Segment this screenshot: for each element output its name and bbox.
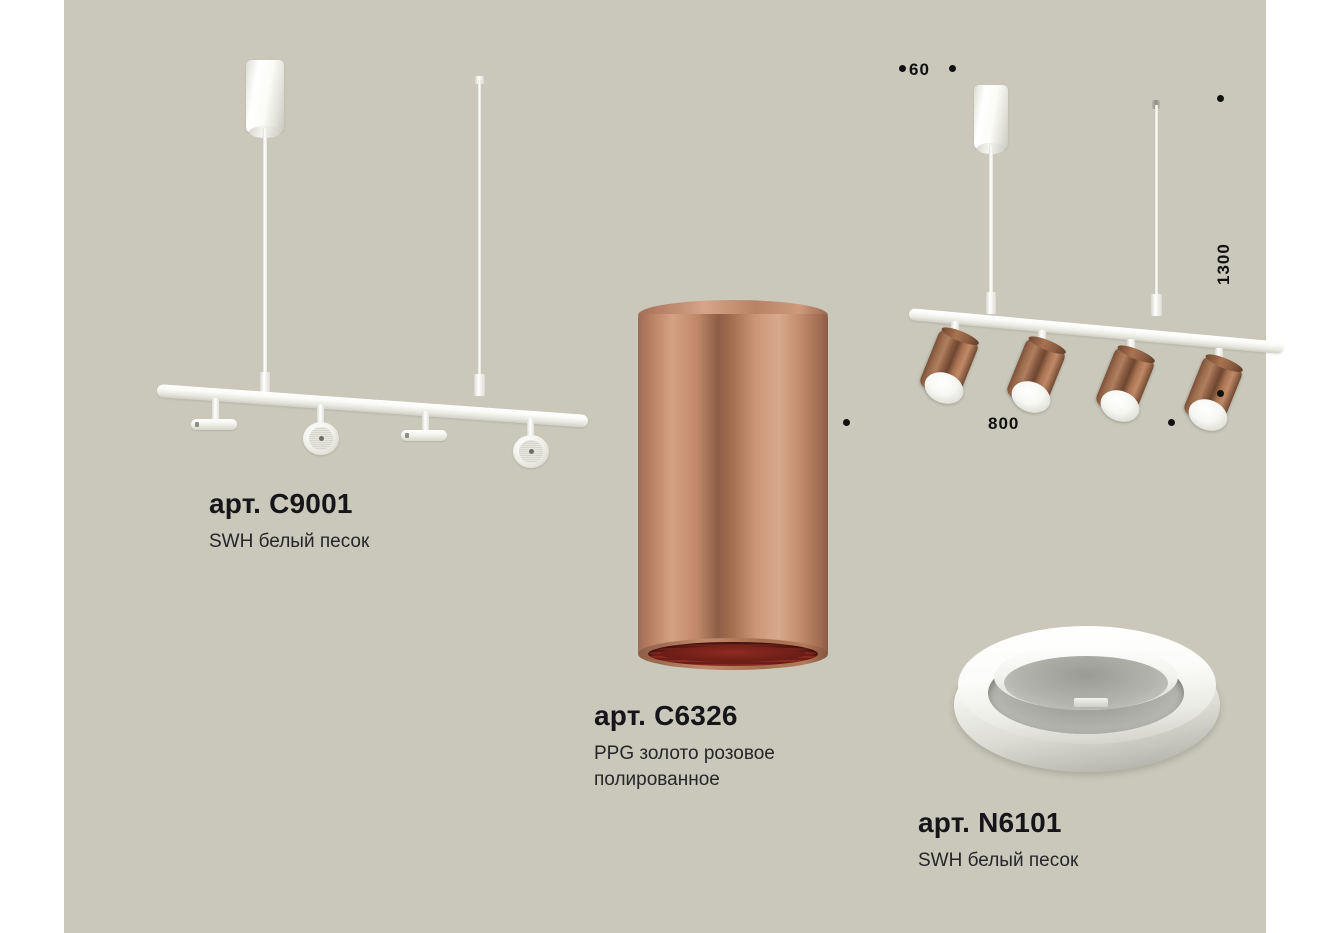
product-canvas: арт. C9001 SWH белый песок арт. C6326 PP… bbox=[64, 0, 1266, 933]
cable-collar bbox=[474, 374, 485, 396]
product-image-c9001 bbox=[64, 0, 624, 480]
cylinder-body bbox=[638, 314, 828, 654]
spot-lamp-1 bbox=[920, 321, 990, 407]
ring-mounting-tab bbox=[1074, 698, 1108, 707]
dimension-dot bbox=[949, 65, 956, 72]
finish-name-c9001: SWH белый песок bbox=[209, 529, 369, 555]
finish-name-c6326-line1: PPG золото розовое bbox=[594, 741, 775, 767]
product-image-n6101 bbox=[894, 610, 1214, 800]
lamp-holder-front-view bbox=[513, 435, 549, 468]
dimension-dot bbox=[1217, 95, 1224, 102]
cylinder-threaded-interior bbox=[648, 642, 818, 666]
catalog-sheet: арт. C9001 SWH белый песок арт. C6326 PP… bbox=[0, 0, 1333, 933]
cable-collar bbox=[1151, 294, 1162, 316]
label-c9001: арт. C9001 SWH белый песок bbox=[209, 488, 369, 555]
ceiling-canopy-icon bbox=[974, 85, 1008, 149]
spot-lamp-2 bbox=[1007, 330, 1077, 416]
dimension-dot bbox=[899, 65, 906, 72]
suspension-rod bbox=[263, 128, 267, 386]
article-code-c6326: арт. C6326 bbox=[594, 700, 775, 732]
rod-collar bbox=[986, 292, 996, 314]
dimension-label-800: 800 bbox=[988, 414, 1019, 434]
lamp-holder-front-view bbox=[303, 422, 339, 455]
lamp-holder-stem bbox=[212, 398, 219, 420]
dimension-dot bbox=[1168, 419, 1175, 426]
dimension-label-1300: 1300 bbox=[1214, 243, 1234, 285]
dimension-label-60: 60 bbox=[909, 60, 930, 80]
article-code-n6101: арт. N6101 bbox=[918, 807, 1078, 839]
dimension-dot bbox=[1217, 390, 1224, 397]
lamp-holder-side-view bbox=[401, 430, 447, 441]
label-n6101: арт. N6101 SWH белый песок bbox=[918, 807, 1078, 874]
suspension-rod bbox=[989, 146, 993, 306]
product-image-c6326 bbox=[564, 290, 824, 690]
dimension-dot bbox=[843, 419, 850, 426]
lamp-holder-side-view bbox=[191, 419, 237, 430]
label-c6326: арт. C6326 PPG золото розовое полированн… bbox=[594, 700, 775, 792]
finish-name-c6326-line2: полированное bbox=[594, 767, 775, 793]
suspension-cable bbox=[1155, 105, 1158, 310]
ceiling-canopy-icon bbox=[246, 60, 284, 132]
spot-lamp-3 bbox=[1096, 339, 1166, 425]
article-code-c9001: арт. C9001 bbox=[209, 488, 369, 520]
finish-name-n6101: SWH белый песок bbox=[918, 848, 1078, 874]
suspension-cable bbox=[478, 80, 481, 380]
